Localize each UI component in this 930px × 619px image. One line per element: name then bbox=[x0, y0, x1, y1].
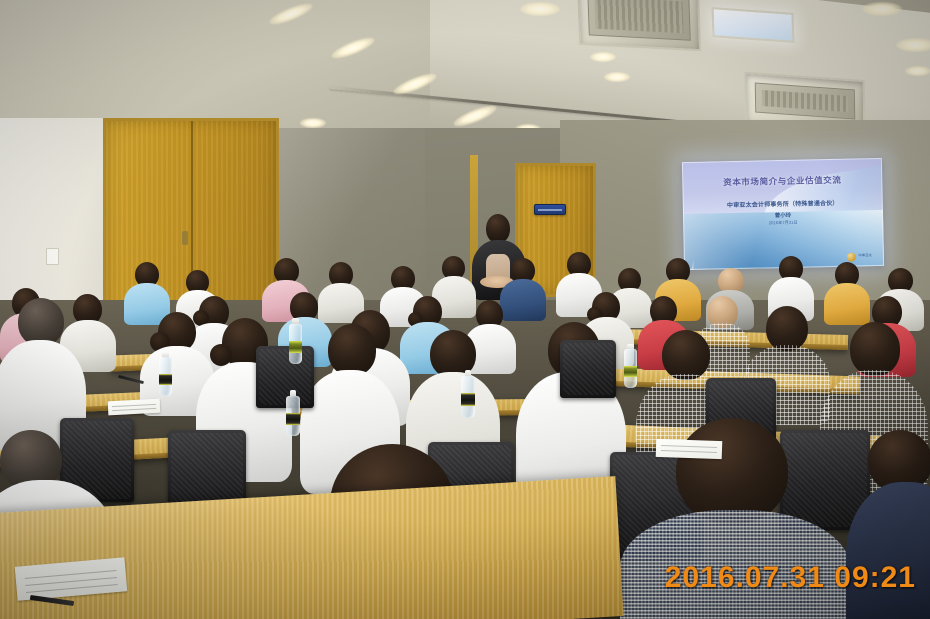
water-bottle[interactable] bbox=[461, 370, 475, 418]
ac-unit-inner bbox=[755, 82, 856, 119]
ceiling-panel-light bbox=[712, 7, 795, 43]
ac-unit-grille bbox=[594, 0, 683, 33]
ceiling-downlight bbox=[896, 38, 930, 52]
door-handle[interactable] bbox=[182, 231, 188, 245]
bottle-label bbox=[289, 341, 302, 353]
chair[interactable] bbox=[560, 340, 616, 398]
water-bottle[interactable] bbox=[289, 318, 302, 364]
ac-unit-inner bbox=[587, 0, 691, 41]
water-bottle[interactable] bbox=[159, 352, 172, 396]
ceiling-downlight bbox=[520, 2, 560, 16]
bottle-body bbox=[159, 357, 172, 396]
attendee-head bbox=[328, 324, 376, 376]
water-bottle[interactable] bbox=[286, 390, 300, 436]
paper-text-line bbox=[661, 450, 716, 453]
camera-timestamp: 2016.07.31 09:21 bbox=[665, 561, 916, 595]
ceiling-ac-unit bbox=[577, 0, 701, 51]
screen-border bbox=[682, 158, 884, 270]
ceiling-downlight bbox=[905, 66, 930, 76]
bottle-body bbox=[286, 396, 300, 436]
bottle-body bbox=[461, 376, 475, 418]
bottle-label bbox=[159, 374, 172, 386]
bottle-body bbox=[624, 349, 637, 388]
ceiling-downlight bbox=[300, 118, 326, 128]
paper-text-line bbox=[26, 584, 118, 593]
attendee-head bbox=[850, 322, 900, 376]
bottle-label bbox=[286, 413, 300, 425]
attendee-body bbox=[846, 482, 930, 619]
bottle-label bbox=[461, 393, 475, 406]
projection-screen-surface: 资本市场简介与企业估值交流 中审亚太会计师事务所（特殊普通合伙） 曾小玲 201… bbox=[682, 158, 884, 270]
ceiling-downlight bbox=[590, 52, 616, 62]
chair-mesh bbox=[259, 349, 311, 405]
door-sign-plaque bbox=[534, 204, 566, 215]
ac-unit-grille bbox=[762, 90, 848, 112]
photograph-conference-room: 资本市场简介与企业估值交流 中审亚太会计师事务所（特殊普通合伙） 曾小玲 201… bbox=[0, 0, 930, 619]
paper-text-line bbox=[112, 404, 156, 407]
bottle-body bbox=[289, 324, 302, 364]
paper-text-line bbox=[661, 445, 716, 448]
paper-text-line bbox=[112, 408, 156, 411]
bottle-label bbox=[624, 366, 637, 378]
door-sign-text-line bbox=[538, 209, 562, 211]
ceiling-downlight bbox=[604, 72, 630, 82]
presenter-head bbox=[486, 214, 510, 243]
chair[interactable] bbox=[256, 346, 314, 408]
attendee-head bbox=[676, 418, 788, 524]
attendee-head bbox=[662, 330, 710, 380]
handout-paper[interactable] bbox=[108, 399, 161, 416]
water-bottle[interactable] bbox=[624, 344, 637, 388]
attendee-head bbox=[18, 298, 64, 346]
handout-paper[interactable] bbox=[656, 439, 723, 459]
ceiling-downlight bbox=[862, 2, 902, 16]
projection-screen: 资本市场简介与企业估值交流 中审亚太会计师事务所（特殊普通合伙） 曾小玲 201… bbox=[682, 158, 884, 270]
light-switch[interactable] bbox=[46, 248, 59, 265]
chair-mesh bbox=[563, 343, 613, 395]
